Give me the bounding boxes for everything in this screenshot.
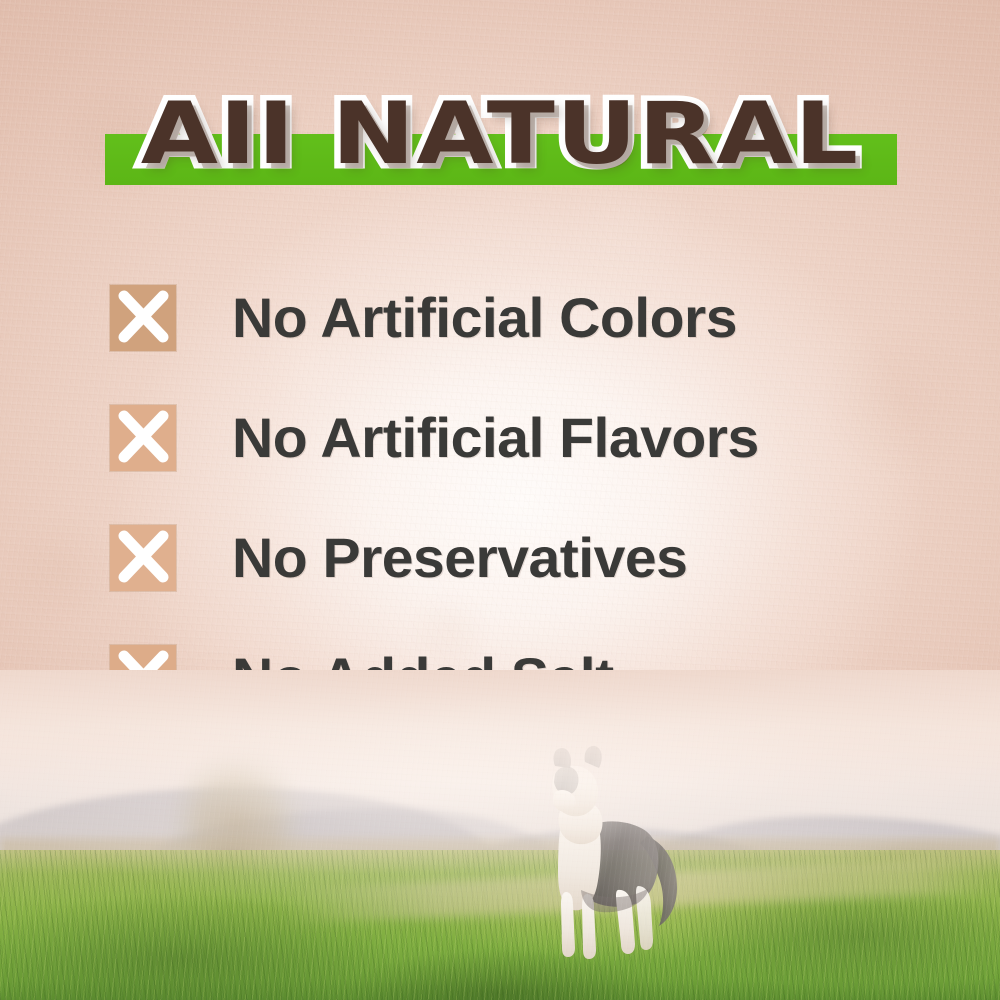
claim-label: No Preservatives bbox=[232, 530, 687, 586]
list-item: No Artificial Flavors bbox=[110, 378, 950, 498]
page-title: AII NATURAL bbox=[0, 74, 1000, 194]
landscape-photo bbox=[0, 670, 1000, 1000]
claims-list: No Artificial Colors No Artificial Flavo… bbox=[110, 258, 950, 738]
x-mark-icon bbox=[110, 525, 176, 591]
claim-label: No Artificial Flavors bbox=[232, 410, 759, 466]
x-mark-checkbox bbox=[110, 285, 176, 351]
list-item: No Artificial Colors bbox=[110, 258, 950, 378]
border-collie-dog bbox=[525, 744, 700, 962]
x-mark-checkbox bbox=[110, 525, 176, 591]
all-natural-feature-panel: AII NATURAL No Artificial Colors No Arti… bbox=[0, 0, 1000, 1000]
x-mark-icon bbox=[110, 405, 176, 471]
x-mark-checkbox bbox=[110, 405, 176, 471]
list-item: No Preservatives bbox=[110, 498, 950, 618]
x-mark-icon bbox=[110, 285, 176, 351]
title-banner: AII NATURAL bbox=[0, 74, 1000, 194]
claim-label: No Artificial Colors bbox=[232, 290, 737, 346]
